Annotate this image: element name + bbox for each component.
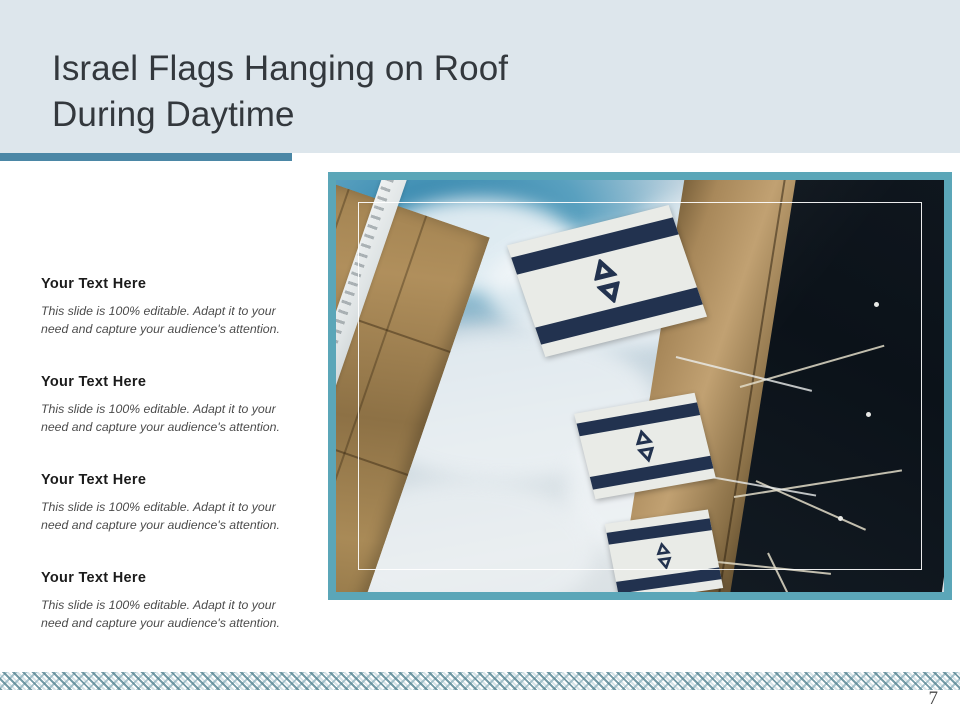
text-block-body: This slide is 100% editable. Adapt it to… [41,597,299,632]
star-of-david-icon [577,254,637,309]
text-block: Your Text Here This slide is 100% editab… [39,472,307,534]
text-block-body: This slide is 100% editable. Adapt it to… [41,401,299,436]
text-block-body: This slide is 100% editable. Adapt it to… [41,303,299,338]
text-block-heading: Your Text Here [41,570,307,586]
footer-decorative-strip [0,672,960,690]
text-block-body: This slide is 100% editable. Adapt it to… [41,499,299,534]
flag-stripe [616,568,721,592]
wire-insulator [866,412,871,417]
page-number: 7 [929,688,939,710]
text-block-heading: Your Text Here [41,472,307,488]
header-accent-bar [0,153,292,161]
page-title: Israel Flags Hanging on Roof During Dayt… [52,46,692,138]
text-block: Your Text Here This slide is 100% editab… [39,276,307,338]
star-of-david-icon [647,540,680,571]
text-block-heading: Your Text Here [41,374,307,390]
text-block-heading: Your Text Here [41,276,307,292]
stone-seam [336,511,362,592]
text-block: Your Text Here This slide is 100% editab… [39,570,307,632]
wire-insulator [838,516,843,521]
star-of-david-icon [624,427,666,466]
flag-stripe [606,518,711,544]
israel-flag-icon [605,509,723,592]
text-block: Your Text Here This slide is 100% editab… [39,374,307,436]
photo-frame [328,172,952,600]
slide-canvas: Israel Flags Hanging on Roof During Dayt… [0,0,960,720]
photo-israel-flags [336,180,944,592]
stone-seam [336,376,408,476]
text-column: Your Text Here This slide is 100% editab… [39,276,307,632]
wire-insulator [874,302,879,307]
stone-seam [336,189,350,592]
